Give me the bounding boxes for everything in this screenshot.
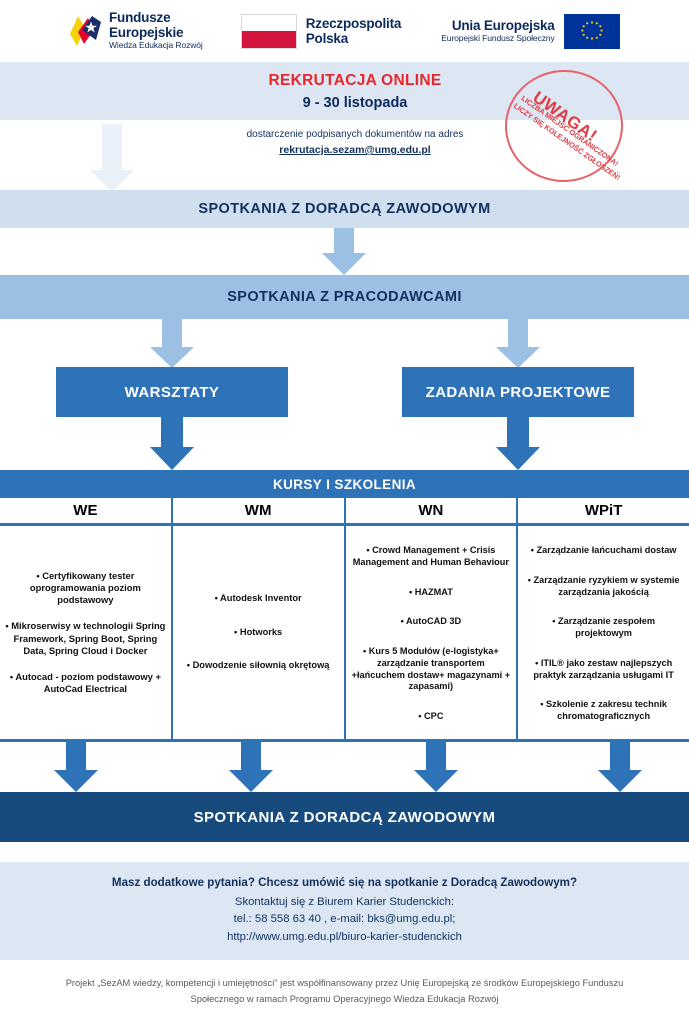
courses-column-wpit: WPiT • Zarządzanie łańcuchami dostaw • Z… xyxy=(518,498,689,739)
list-item: • ITIL® jako zestaw najlepszych praktyk … xyxy=(523,658,684,682)
flow-box-courses-header: KURSY I SZKOLENIA xyxy=(0,470,689,498)
logo-rzeczpospolita-polska: Rzeczpospolita Polska xyxy=(241,14,401,49)
arrow-down-employers-to-workshops xyxy=(150,319,194,368)
arrow-down-workshops-to-courses xyxy=(150,417,194,470)
contact-phone-email: tel.: 58 558 63 40 , e-mail: bks@umg.edu… xyxy=(234,911,456,929)
list-item: • Mikroserwisy w technologii Spring Fram… xyxy=(5,620,166,656)
courses-table: WE • Certyfikowany tester oprogramowania… xyxy=(0,498,689,742)
arrow-down-banner-to-advisor xyxy=(90,124,134,192)
courses-column-we-body: • Certyfikowany tester oprogramowania po… xyxy=(0,526,171,739)
courses-column-wm-header: WM xyxy=(173,498,344,526)
footer-funding-note: Projekt „SezAM wiedzy, kompetencji i umi… xyxy=(0,966,689,1024)
fundusze-line2: Europejskie xyxy=(109,26,203,41)
logo-strip: Fundusze Europejskie Wiedza Edukacja Roz… xyxy=(0,0,689,62)
list-item: • Zarządzanie ryzykiem w systemie zarząd… xyxy=(523,575,684,599)
recruitment-subtitle: dostarczenie podpisanych dokumentów na a… xyxy=(190,129,520,140)
flow-box-workshops-label: WARSZTATY xyxy=(125,384,220,401)
infographic-page: Fundusze Europejskie Wiedza Edukacja Roz… xyxy=(0,0,689,1024)
unia-line1: Unia Europejska xyxy=(441,18,554,34)
list-item: • Autodesk Inventor xyxy=(178,593,339,605)
unia-line2: Europejski Fundusz Społeczny xyxy=(441,34,554,44)
contact-website[interactable]: http://www.umg.edu.pl/biuro-karier-stude… xyxy=(227,929,462,947)
list-item: • Hotworks xyxy=(178,627,339,639)
courses-column-wn-body: • Crowd Management + Crisis Management a… xyxy=(346,526,517,739)
courses-column-wn: WN • Crowd Management + Crisis Managemen… xyxy=(346,498,519,739)
courses-column-wn-header: WN xyxy=(346,498,517,526)
flow-box-advisor-meetings-top-label: SPOTKANIA Z DORADCĄ ZAWODOWYM xyxy=(198,201,490,217)
courses-column-wm: WM • Autodesk Inventor • Hotworks • Dowo… xyxy=(173,498,346,739)
courses-column-wpit-header: WPiT xyxy=(518,498,689,526)
courses-column-we-header: WE xyxy=(0,498,171,526)
flow-box-workshops: WARSZTATY xyxy=(56,367,288,417)
rzeczpospolita-line1: Rzeczpospolita xyxy=(306,16,401,31)
arrow-down-employers-to-projects xyxy=(496,319,540,368)
flow-box-advisor-meetings-top: SPOTKANIA Z DORADCĄ ZAWODOWYM xyxy=(0,190,689,228)
arrow-down-wn-to-advisor xyxy=(414,742,458,792)
recruitment-email-link[interactable]: rekrutacja.sezam@umg.edu.pl xyxy=(279,144,430,156)
list-item: • Szkolenie z zakresu technik chromatogr… xyxy=(523,699,684,723)
list-item: • Zarządzanie zespołem projektowym xyxy=(523,616,684,640)
eu-flag-icon xyxy=(564,14,620,49)
rzeczpospolita-line2: Polska xyxy=(306,31,401,46)
courses-column-wm-body: • Autodesk Inventor • Hotworks • Dowodze… xyxy=(173,526,344,739)
flow-box-project-tasks-label: ZADANIA PROJEKTOWE xyxy=(426,384,611,401)
footer-line2: Społecznego w ramach Programu Operacyjne… xyxy=(191,992,499,1008)
courses-column-wpit-body: • Zarządzanie łańcuchami dostaw • Zarząd… xyxy=(518,526,689,739)
logo-unia-europejska: Unia Europejska Europejski Fundusz Społe… xyxy=(441,14,619,49)
fundusze-line1: Fundusze xyxy=(109,11,203,26)
contact-office: Skontaktuj się z Biurem Karier Studencki… xyxy=(235,894,454,912)
list-item: • Zarządzanie łańcuchami dostaw xyxy=(523,545,684,557)
recruitment-dates: 9 - 30 listopada xyxy=(190,95,520,111)
recruitment-banner-text: REKRUTACJA ONLINE 9 - 30 listopada dosta… xyxy=(190,72,520,158)
list-item: • Crowd Management + Crisis Management a… xyxy=(351,545,512,569)
recruitment-title: REKRUTACJA ONLINE xyxy=(190,72,520,90)
list-item: • Certyfikowany tester oprogramowania po… xyxy=(5,570,166,606)
arrow-down-projects-to-courses xyxy=(496,417,540,470)
logo-fundusze-europejskie: Fundusze Europejskie Wiedza Edukacja Roz… xyxy=(68,11,203,50)
arrow-down-wpit-to-advisor xyxy=(598,742,642,792)
flow-box-courses-header-label: KURSY I SZKOLENIA xyxy=(273,477,416,492)
list-item: • Dowodzenie siłownią okrętową xyxy=(178,660,339,672)
fundusze-line3: Wiedza Edukacja Rozwój xyxy=(109,41,203,50)
list-item: • HAZMAT xyxy=(351,587,512,599)
flow-box-project-tasks: ZADANIA PROJEKTOWE xyxy=(402,367,634,417)
contact-section: Masz dodatkowe pytania? Chcesz umówić si… xyxy=(0,862,689,960)
poland-flag-icon xyxy=(241,14,297,49)
list-item: • CPC xyxy=(351,711,512,723)
arrow-down-advisor-to-employers xyxy=(322,228,366,275)
arrow-down-we-to-advisor xyxy=(54,742,98,792)
flow-box-advisor-meetings-bottom: SPOTKANIA Z DORADCĄ ZAWODOWYM xyxy=(0,792,689,842)
contact-question: Masz dodatkowe pytania? Chcesz umówić si… xyxy=(112,876,577,889)
list-item: • Autocad - poziom podstawowy + AutoCad … xyxy=(5,671,166,695)
footer-line1: Projekt „SezAM wiedzy, kompetencji i umi… xyxy=(66,976,624,992)
arrow-down-wm-to-advisor xyxy=(229,742,273,792)
flow-box-employer-meetings-label: SPOTKANIA Z PRACODAWCAMI xyxy=(227,289,462,305)
courses-column-we: WE • Certyfikowany tester oprogramowania… xyxy=(0,498,173,739)
flow-box-advisor-meetings-bottom-label: SPOTKANIA Z DORADCĄ ZAWODOWYM xyxy=(194,809,496,826)
list-item: • AutoCAD 3D xyxy=(351,616,512,628)
fundusze-europejskie-icon xyxy=(68,14,102,48)
flow-box-employer-meetings: SPOTKANIA Z PRACODAWCAMI xyxy=(0,275,689,319)
list-item: • Kurs 5 Modułów (e-logistyka+ zarządzan… xyxy=(351,646,512,693)
